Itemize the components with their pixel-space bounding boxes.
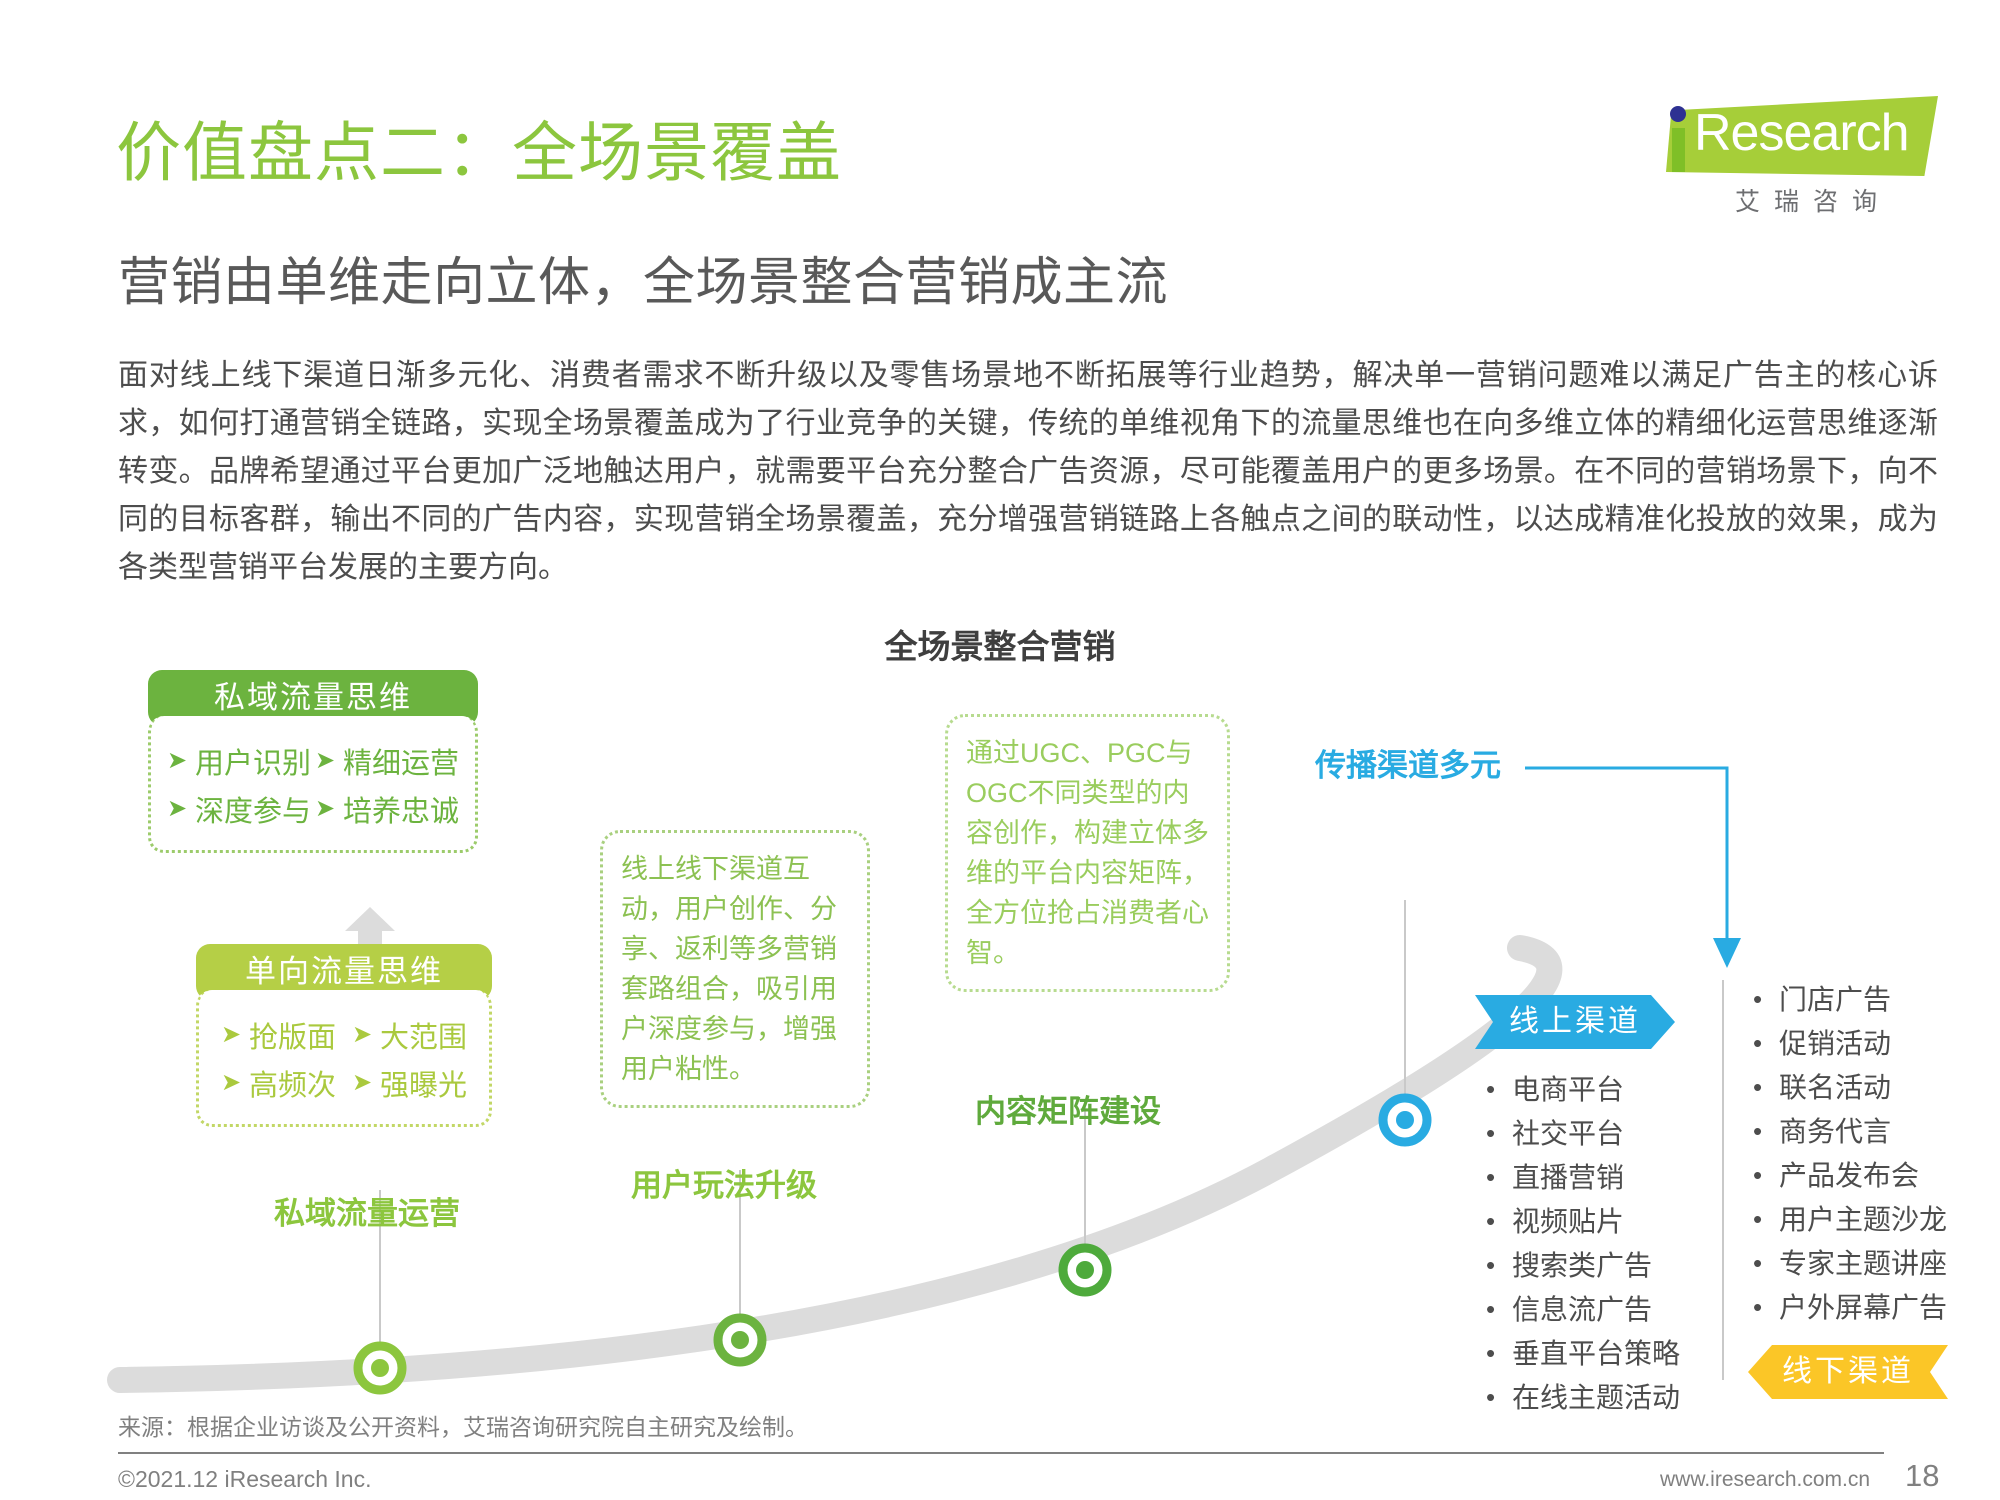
- logo-i-stem-icon: [1672, 128, 1685, 172]
- logo-i-dot-icon: [1670, 106, 1686, 122]
- diagram-canvas: 私域流量思维 ➤ 用户识别 ➤ 精细运营 ➤ 深度参与: [0, 680, 2000, 1420]
- list-online-channels: 电商平台 社交平台 直播营销 视频贴片 搜索类广告 信息流广告 垂直平台策略 在…: [1478, 1068, 1680, 1420]
- note-user-play-upgrade: 线上线下渠道互动，用户创作、分享、返利等多营销套路组合，吸引用户深度参与，增强用…: [600, 830, 870, 1108]
- list-item: 信息流广告: [1478, 1288, 1680, 1332]
- list-item: 户外屏幕广告: [1745, 1286, 1947, 1330]
- bullet-label: 抢版面: [249, 1014, 336, 1056]
- banner-online-channel: 线上渠道: [1475, 995, 1675, 1049]
- node-label-channel-diversity: 传播渠道多元: [1315, 740, 1501, 785]
- list-offline-channels: 门店广告 促销活动 联名活动 商务代言 产品发布会 用户主题沙龙 专家主题讲座 …: [1745, 978, 1947, 1330]
- logo-chinese-name: 艾瑞咨询: [1670, 182, 1942, 218]
- bullet-row: ➤ 抢版面 ➤ 大范围: [213, 1014, 475, 1056]
- list-item: 视频贴片: [1478, 1200, 1680, 1244]
- list-item: 专家主题讲座: [1745, 1242, 1947, 1286]
- page-subtitle: 营销由单维走向立体，全场景整合营销成主流: [118, 240, 1168, 315]
- card-private-traffic-mindset: 私域流量思维 ➤ 用户识别 ➤ 精细运营 ➤ 深度参与: [148, 670, 478, 853]
- chevron-right-icon: ➤: [221, 1071, 241, 1095]
- chevron-right-icon: ➤: [167, 749, 187, 773]
- bullet-label: 培养忠诚: [343, 788, 459, 830]
- list-item: 产品发布会: [1745, 1154, 1947, 1198]
- bullet-row: ➤ 高频次 ➤ 强曝光: [213, 1062, 475, 1104]
- chevron-right-icon: ➤: [315, 797, 335, 821]
- note-content-matrix: 通过UGC、PGC与OGC不同类型的内容创作，构建立体多维的平台内容矩阵，全方位…: [945, 714, 1230, 992]
- milestone-node-4: [1383, 1098, 1427, 1142]
- logo-wordmark: Research: [1694, 104, 1909, 162]
- page-number: 18: [1905, 1458, 1939, 1494]
- body-paragraph: 面对线上线下渠道日渐多元化、消费者需求不断升级以及零售场景地不断拓展等行业趋势，…: [118, 352, 1938, 592]
- node-label-private-traffic: 私域流量运营: [274, 1188, 460, 1233]
- page-title: 价值盘点二：全场景覆盖: [116, 100, 842, 194]
- card-body-private-mindset: ➤ 用户识别 ➤ 精细运营 ➤ 深度参与 ➤ 培养忠诚: [148, 716, 478, 853]
- copyright-text: ©2021.12 iResearch Inc.: [118, 1466, 371, 1493]
- chevron-right-icon: ➤: [167, 797, 187, 821]
- bullet-label: 用户识别: [195, 740, 311, 782]
- chevron-right-icon: ➤: [315, 749, 335, 773]
- list-item: 用户主题沙龙: [1745, 1198, 1947, 1242]
- list-item: 在线主题活动: [1478, 1376, 1680, 1420]
- card-body-oneway-mindset: ➤ 抢版面 ➤ 大范围 ➤ 高频次 ➤ 强曝光: [196, 990, 492, 1127]
- bullet-row: ➤ 深度参与 ➤ 培养忠诚: [165, 788, 461, 830]
- list-item: 联名活动: [1745, 1066, 1947, 1110]
- milestone-node-3: [1063, 1248, 1107, 1292]
- bullet-item: ➤ 精细运营: [315, 740, 459, 782]
- source-note: 来源：根据企业访谈及公开资料，艾瑞咨询研究院自主研究及绘制。: [118, 1408, 808, 1442]
- bullet-label: 精细运营: [343, 740, 459, 782]
- chevron-right-icon: ➤: [221, 1023, 241, 1047]
- milestone-node-2: [718, 1318, 762, 1362]
- chevron-right-icon: ➤: [352, 1071, 372, 1095]
- iresearch-logo: Research 艾瑞咨询: [1648, 88, 1958, 218]
- list-item: 促销活动: [1745, 1022, 1947, 1066]
- channel-elbow-arrow: [1525, 768, 1727, 940]
- footer-divider: [118, 1452, 1884, 1454]
- list-item: 商务代言: [1745, 1110, 1947, 1154]
- bullet-item: ➤ 深度参与: [167, 788, 311, 830]
- bullet-item: ➤ 强曝光: [352, 1062, 467, 1104]
- list-item: 电商平台: [1478, 1068, 1680, 1112]
- list-item: 垂直平台策略: [1478, 1332, 1680, 1376]
- bullet-item: ➤ 大范围: [352, 1014, 467, 1056]
- bullet-label: 强曝光: [380, 1062, 467, 1104]
- chevron-right-icon: ➤: [352, 1023, 372, 1047]
- list-item: 门店广告: [1745, 978, 1947, 1022]
- card-oneway-traffic-mindset: 单向流量思维 ➤ 抢版面 ➤ 大范围 ➤ 高频次: [196, 944, 492, 1127]
- bullet-item: ➤ 高频次: [221, 1062, 336, 1104]
- bullet-label: 深度参与: [195, 788, 311, 830]
- node-label-content-matrix: 内容矩阵建设: [975, 1086, 1161, 1131]
- bullet-label: 大范围: [380, 1014, 467, 1056]
- slide-page: 价值盘点二：全场景覆盖 营销由单维走向立体，全场景整合营销成主流 Researc…: [0, 0, 2000, 1500]
- milestone-node-1: [358, 1346, 402, 1390]
- list-item: 直播营销: [1478, 1156, 1680, 1200]
- list-item: 搜索类广告: [1478, 1244, 1680, 1288]
- node-label-user-play-upgrade: 用户玩法升级: [631, 1160, 817, 1205]
- bullet-item: ➤ 抢版面: [221, 1014, 336, 1056]
- channel-arrowhead-icon: [1713, 938, 1741, 968]
- bullet-row: ➤ 用户识别 ➤ 精细运营: [165, 740, 461, 782]
- bullet-item: ➤ 培养忠诚: [315, 788, 459, 830]
- website-link[interactable]: www.iresearch.com.cn: [1660, 1468, 1870, 1492]
- list-item: 社交平台: [1478, 1112, 1680, 1156]
- banner-offline-channel: 线下渠道: [1748, 1345, 1948, 1399]
- bullet-label: 高频次: [249, 1062, 336, 1104]
- bullet-item: ➤ 用户识别: [167, 740, 311, 782]
- figure-title: 全场景整合营销: [0, 620, 2000, 668]
